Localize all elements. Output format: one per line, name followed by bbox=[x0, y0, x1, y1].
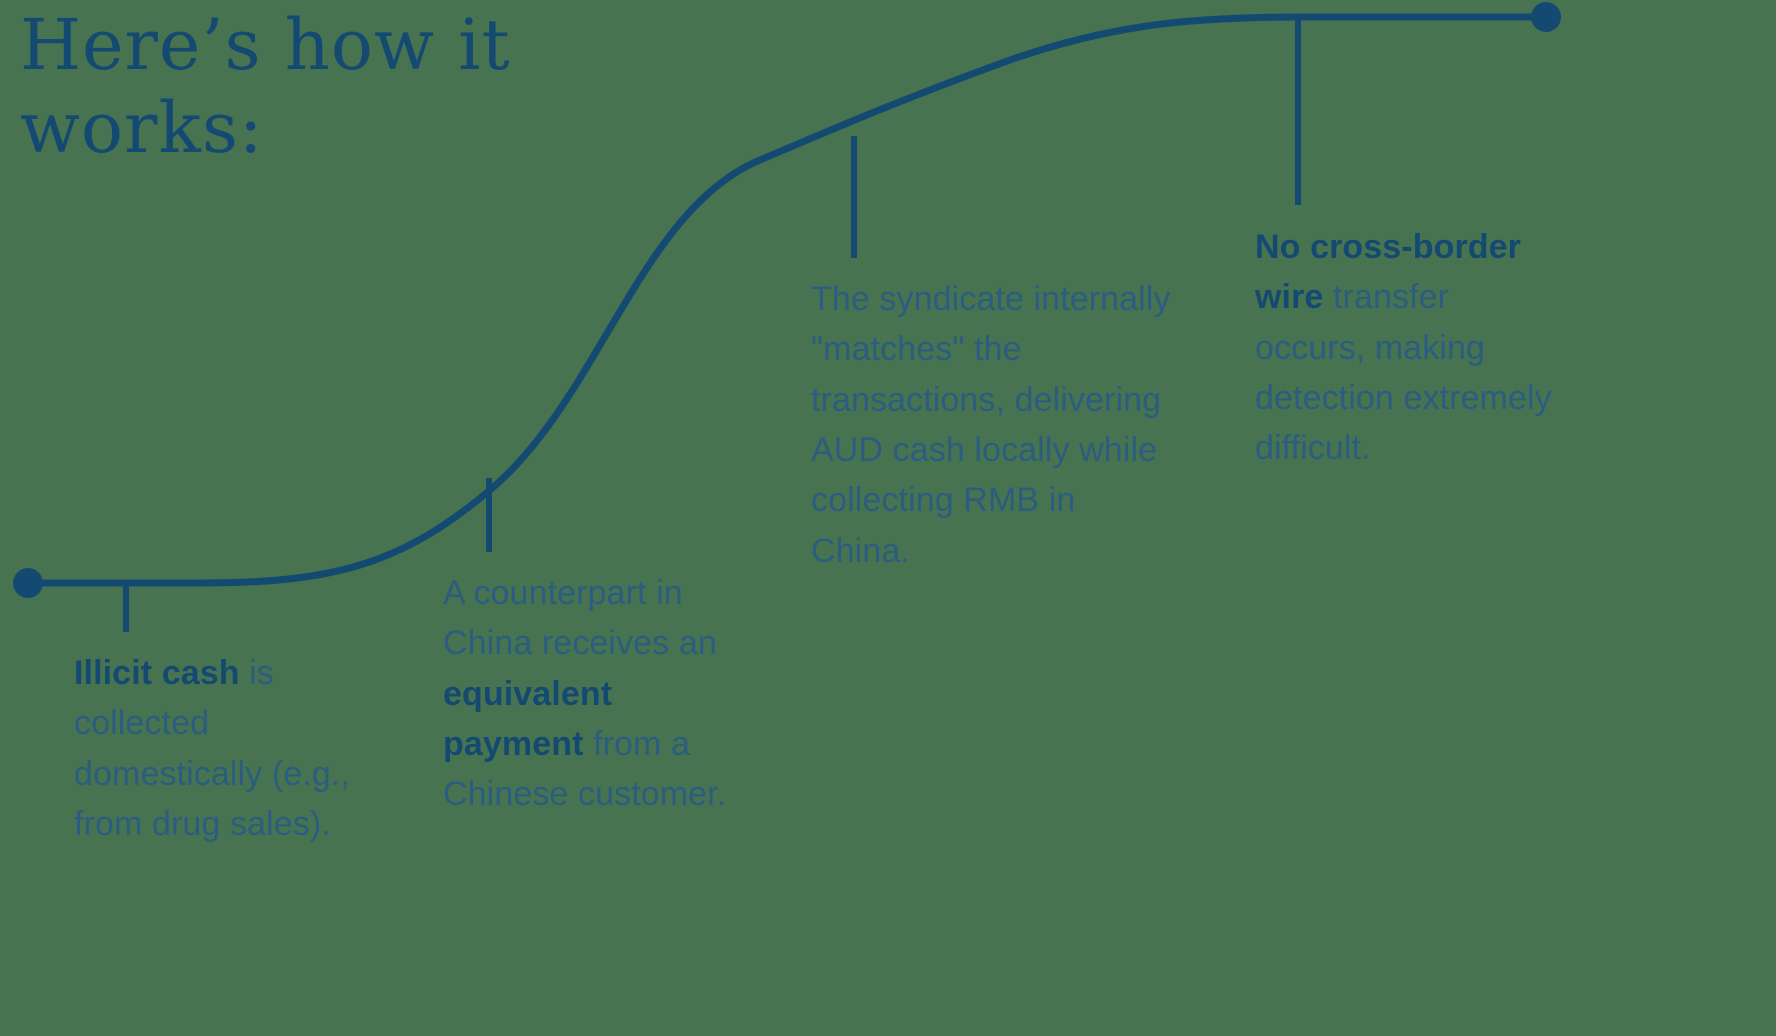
end-point-marker bbox=[1531, 2, 1561, 32]
page-title-line-2: works: bbox=[20, 87, 640, 170]
infographic-canvas: Here’s how it works: Illicit cash is col… bbox=[0, 0, 1776, 1036]
callout-stage-2: A counterpart in China receives an equiv… bbox=[443, 568, 743, 820]
page-title: Here’s how it works: bbox=[20, 4, 640, 169]
callout-stage-4: No cross-border wire transfer occurs, ma… bbox=[1255, 222, 1565, 474]
callout-stage-1-bold: Illicit cash bbox=[74, 654, 240, 692]
callout-stage-3: The syndicate internally "matches" the t… bbox=[811, 274, 1181, 576]
callout-stage-2-text-pre: A counterpart in China receives an bbox=[443, 574, 717, 662]
page-title-line-1: Here’s how it bbox=[20, 4, 640, 87]
callout-stage-3-text: The syndicate internally "matches" the t… bbox=[811, 280, 1171, 570]
callout-stage-1: Illicit cash is collected domestically (… bbox=[74, 648, 374, 849]
start-point-marker bbox=[13, 568, 43, 598]
